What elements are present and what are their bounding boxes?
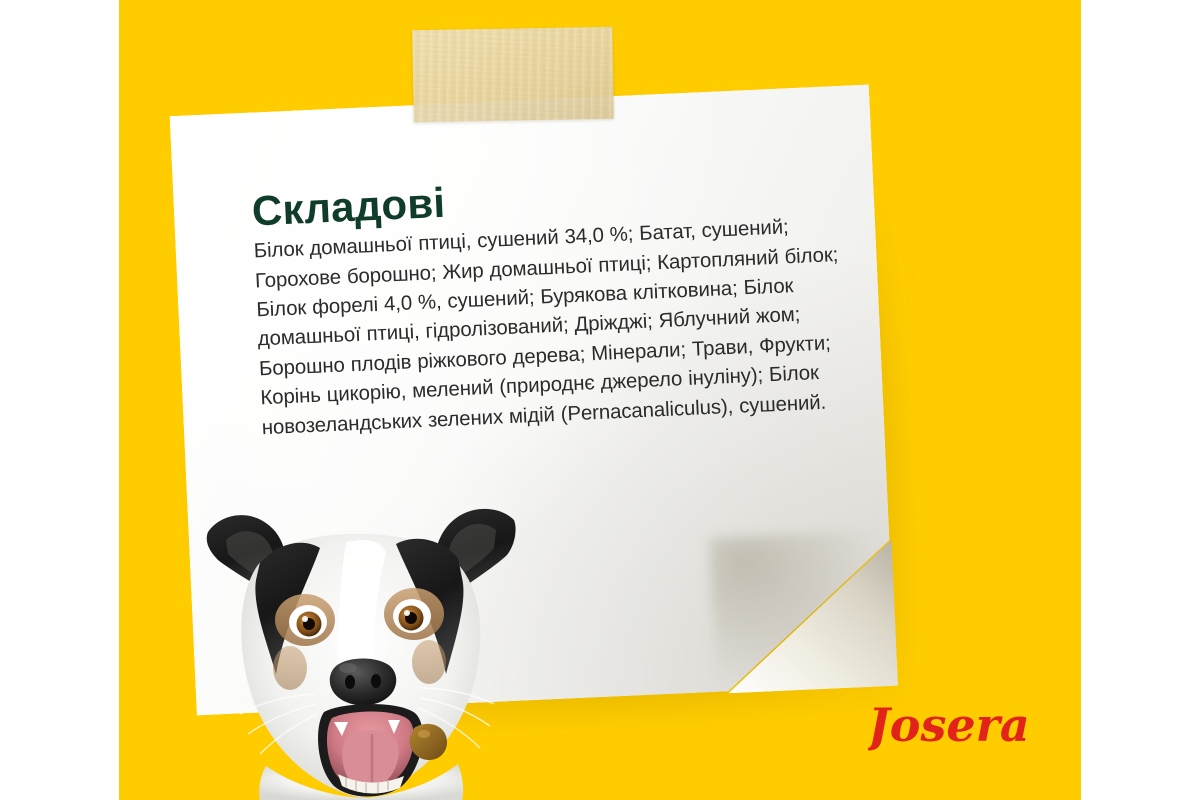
- dog-nose: [330, 659, 397, 706]
- dog-mouth: [318, 704, 423, 797]
- josera-logo: Josera: [868, 698, 1038, 754]
- ingredients-text: Білок домашньої птиці, сушений 34,0 %; Б…: [253, 211, 862, 444]
- ingredients-block: Складові Білок домашньої птиці, сушений …: [251, 161, 862, 443]
- masking-tape-icon: [412, 27, 614, 122]
- josera-wordmark: Josera: [868, 698, 1030, 752]
- dog-photo: [196, 498, 526, 800]
- advertisement-canvas: Складові Білок домашньої птиці, сушений …: [0, 0, 1200, 800]
